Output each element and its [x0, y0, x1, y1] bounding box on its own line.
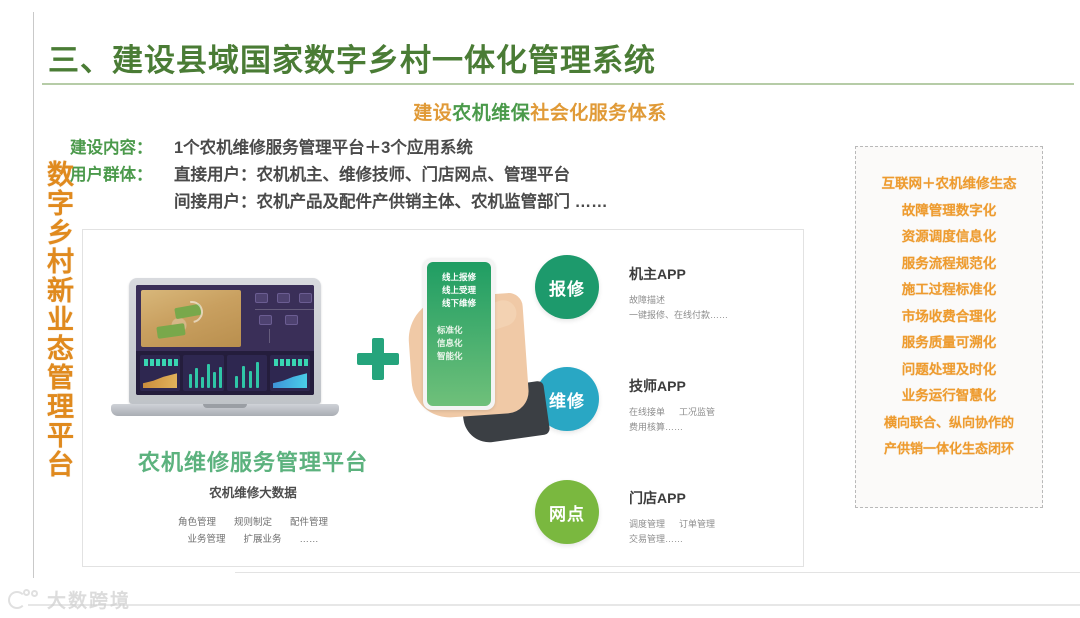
- page-subtitle: 建设农机维保社会化服务体系: [0, 98, 1080, 125]
- app-title-technician: 技师APP: [629, 376, 789, 396]
- dashboard-top-section: [136, 285, 314, 351]
- platform-caption: 农机维修服务管理平台 农机维修大数据 角色管理规则制定配件管理 业务管理扩展业务…: [103, 445, 403, 548]
- app-tag-tech-2: 工况监管: [679, 407, 715, 417]
- laptop-screen: [136, 285, 314, 395]
- chart-card-3: [227, 355, 267, 391]
- subtitle-part-2: 农机维保: [452, 103, 530, 124]
- app-title-owner: 机主APP: [629, 264, 789, 284]
- chart-card-1: [140, 355, 180, 391]
- benefits-panel: 互联网＋农机维修生态 故障管理数字化 资源调度信息化 服务流程规范化 施工过程标…: [855, 146, 1043, 508]
- watermark: 大数跨境: [8, 586, 131, 613]
- laptop-lid: [129, 278, 321, 404]
- phone-line-4: 标准化: [433, 324, 485, 337]
- plus-icon: [357, 338, 399, 380]
- benefit-item-11: 产供销一体化生态闭环: [864, 436, 1034, 463]
- platform-tag-3: 配件管理: [290, 517, 328, 528]
- benefit-item-2: 故障管理数字化: [864, 198, 1034, 225]
- app-block-technician: 技师APP 在线接单工况监管费用核算……: [629, 376, 789, 435]
- phone-line-1: 线上报修: [433, 271, 485, 284]
- platform-tag-1: 角色管理: [178, 517, 216, 528]
- topology-link-2: [269, 329, 270, 343]
- laptop-illustration: [111, 278, 339, 428]
- benefit-item-10: 横向联合、纵向协作的: [864, 410, 1034, 437]
- platform-tag-2: 规则制定: [234, 517, 272, 528]
- app-tag-store-2: 订单管理: [679, 519, 715, 529]
- chart-card-4: [270, 355, 310, 391]
- bullet-text-3: 间接用户：农机产品及配件产供销主体、农机监管部门 ……: [174, 189, 608, 216]
- app-tag-store-3: 交易管理……: [629, 534, 683, 544]
- diagram-panel: 线上报修 线上受理 线下维修 标准化 信息化 智能化 报修 维修 网点 机主AP…: [82, 229, 804, 567]
- platform-tags: 角色管理规则制定配件管理 业务管理扩展业务……: [103, 514, 403, 548]
- phone-line-5: 信息化: [433, 337, 485, 350]
- circle-baoxiu[interactable]: 报修: [535, 255, 599, 319]
- app-block-owner: 机主APP 故障描述一键报修、在线付款……: [629, 264, 789, 323]
- bullet-label-1: 建设内容：: [70, 135, 174, 162]
- benefit-item-8: 问题处理及时化: [864, 357, 1034, 384]
- platform-tags-row-2: 业务管理扩展业务……: [103, 531, 403, 548]
- phone-line-3: 线下维修: [433, 297, 485, 310]
- mobile-phone: 线上报修 线上受理 线下维修 标准化 信息化 智能化: [423, 258, 495, 410]
- bullet-label-2: 用户群体：: [70, 162, 174, 189]
- app-tag-tech-3: 费用核算……: [629, 422, 683, 432]
- chart-area-1: [143, 372, 177, 388]
- bullet-text-2: 直接用户：农机机主、维修技师、门店网点、管理平台: [174, 162, 570, 189]
- watermark-rule: [28, 604, 1080, 606]
- dashboard-charts: [136, 351, 314, 395]
- platform-title: 农机维修服务管理平台: [103, 445, 403, 477]
- watermark-text: 大数跨境: [47, 586, 131, 613]
- app-tag-owner-2: 一键报修、在线付款……: [629, 310, 728, 320]
- chart-area-2: [273, 372, 307, 388]
- benefit-item-1: 互联网＋农机维修生态: [864, 171, 1034, 198]
- tractor-icon-2: [156, 323, 185, 339]
- chart-dots-1: [144, 359, 178, 366]
- topology-node-2: [277, 293, 290, 303]
- app-tag-tech-1: 在线接单: [629, 407, 665, 417]
- benefit-item-3: 资源调度信息化: [864, 224, 1034, 251]
- chart-card-2: [183, 355, 223, 391]
- bullet-list: 建设内容： 1个农机维修服务管理平台＋3个应用系统 用户群体： 直接用户：农机机…: [70, 135, 608, 216]
- topology-node-3: [299, 293, 312, 303]
- bullet-text-1: 1个农机维修服务管理平台＋3个应用系统: [174, 135, 473, 162]
- platform-tag-5: 扩展业务: [244, 534, 282, 545]
- bullet-row-3: 间接用户：农机产品及配件产供销主体、农机监管部门 ……: [70, 189, 608, 216]
- platform-tags-row-1: 角色管理规则制定配件管理: [103, 514, 403, 531]
- platform-subtitle: 农机维修大数据: [103, 482, 403, 501]
- benefit-item-7: 服务质量可溯化: [864, 330, 1034, 357]
- page-title: 三、建设县域国家数字乡村一体化管理系统: [48, 35, 656, 80]
- platform-tag-4: 业务管理: [187, 534, 225, 545]
- benefit-item-4: 服务流程规范化: [864, 251, 1034, 278]
- bullet-row-1: 建设内容： 1个农机维修服务管理平台＋3个应用系统: [70, 135, 608, 162]
- bullet-row-2: 用户群体： 直接用户：农机机主、维修技师、门店网点、管理平台: [70, 162, 608, 189]
- dashboard-field-photo: [141, 290, 241, 347]
- platform-tag-6: ……: [300, 534, 319, 545]
- app-tag-store-1: 调度管理: [629, 519, 665, 529]
- subtitle-part-3: 社会化服务体系: [530, 103, 667, 124]
- vertical-side-label: 数字乡村新业态管理平台: [27, 160, 71, 479]
- app-title-store: 门店APP: [629, 488, 789, 508]
- app-tags-store: 调度管理订单管理交易管理……: [629, 517, 789, 547]
- app-tags-owner: 故障描述一键报修、在线付款……: [629, 293, 789, 323]
- topology-node-1: [255, 293, 268, 303]
- watermark-logo-icon: [8, 589, 42, 611]
- app-tags-technician: 在线接单工况监管费用核算……: [629, 405, 789, 435]
- topology-link-1: [255, 309, 314, 310]
- benefit-item-9: 业务运行智慧化: [864, 383, 1034, 410]
- title-underline: [42, 83, 1074, 85]
- chart-dots-2: [274, 359, 310, 366]
- benefit-item-5: 施工过程标准化: [864, 277, 1034, 304]
- topology-node-5: [285, 315, 298, 325]
- app-tag-owner-1: 故障描述: [629, 295, 665, 305]
- frame-horizontal-rule: [235, 572, 1080, 573]
- phone-line-6: 智能化: [433, 350, 485, 363]
- laptop-notch: [203, 404, 247, 408]
- slide-root: 三、建设县域国家数字乡村一体化管理系统 建设农机维保社会化服务体系 建设内容： …: [0, 0, 1080, 618]
- subtitle-part-1: 建设: [413, 103, 452, 124]
- app-block-store: 门店APP 调度管理订单管理交易管理……: [629, 488, 789, 547]
- phone-line-2: 线上受理: [433, 284, 485, 297]
- dashboard-topology: [245, 285, 314, 351]
- circle-wangdian[interactable]: 网点: [535, 480, 599, 544]
- benefit-item-6: 市场收费合理化: [864, 304, 1034, 331]
- phone-screen: 线上报修 线上受理 线下维修 标准化 信息化 智能化: [427, 262, 491, 406]
- topology-node-4: [259, 315, 272, 325]
